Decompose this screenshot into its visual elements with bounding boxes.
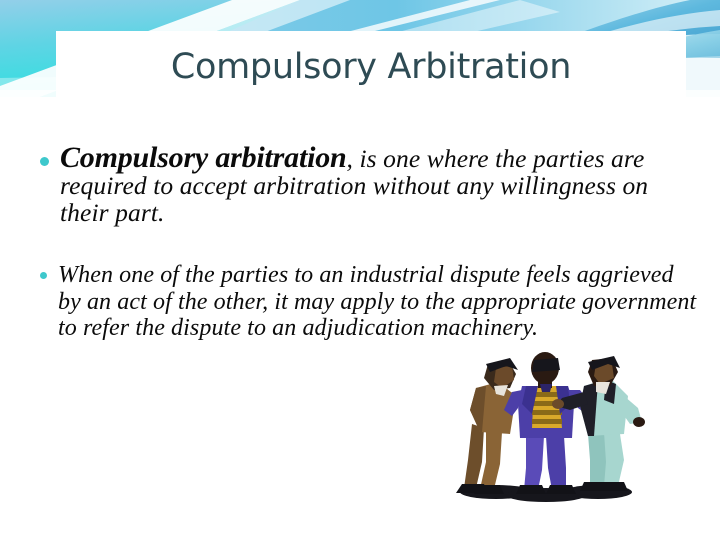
bullet-text: Compulsory arbitration, is one where the… [60, 144, 698, 226]
list-item: When one of the parties to an industrial… [0, 226, 720, 342]
bullet-dot-icon [40, 157, 49, 166]
bullet-dot-icon [40, 272, 47, 279]
clipart-graphic [438, 352, 658, 507]
slide-canvas: Compulsory Arbitration Compulsory arbitr… [0, 0, 720, 540]
three-businessmen-argument-clipart [438, 352, 658, 507]
center-man [504, 352, 592, 494]
bullet-lead-term: Compulsory arbitration [60, 141, 347, 174]
page-title: Compulsory Arbitration [56, 40, 686, 94]
list-item: Compulsory arbitration, is one where the… [0, 130, 720, 226]
bullet-text: When one of the parties to an industrial… [58, 262, 702, 342]
